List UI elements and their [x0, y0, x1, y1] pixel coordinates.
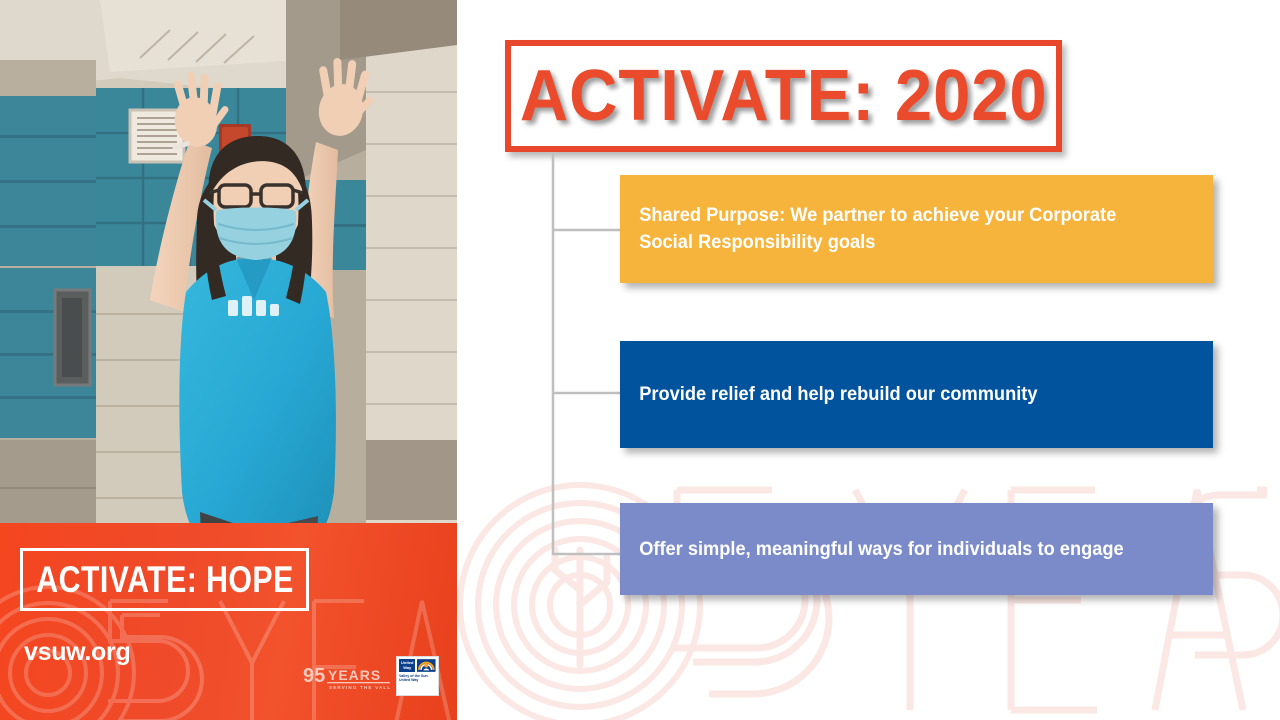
content-box-text: Provide relief and help rebuild our comm… [620, 381, 1059, 408]
content-box-offer-simple-ways[interactable]: Offer simple, meaningful ways for indivi… [620, 503, 1213, 595]
95-years-logo: 95 YEARS SERVING THE VALLEY [303, 662, 391, 690]
svg-text:95: 95 [303, 665, 325, 687]
content-box-provide-relief[interactable]: Provide relief and help rebuild our comm… [620, 341, 1213, 448]
slide-canvas: ACTIVATE: HOPE vsuw.org 95 YEARS SERVING… [0, 0, 1280, 720]
content-box-text: Offer simple, meaningful ways for indivi… [620, 536, 1145, 563]
svg-text:SERVING THE VALLEY: SERVING THE VALLEY [329, 685, 391, 690]
united-way-wordmark: UnitedWay [399, 659, 415, 672]
website-url[interactable]: vsuw.org [24, 638, 130, 667]
united-way-rainbow-hand-icon [417, 659, 436, 672]
slide-title: ACTIVATE: 2020 [520, 55, 1048, 137]
content-box-shared-purpose[interactable]: Shared Purpose: We partner to achieve yo… [620, 175, 1213, 283]
activate-hope-headline: ACTIVATE: HOPE [36, 559, 293, 601]
united-way-badge: UnitedWay Valley of the SunUnited Way [396, 656, 439, 696]
brand-banner: ACTIVATE: HOPE vsuw.org 95 YEARS SERVING… [0, 523, 457, 720]
slide-title-box: ACTIVATE: 2020 [505, 40, 1062, 152]
svg-text:YEARS: YEARS [328, 667, 381, 683]
content-box-text: Shared Purpose: We partner to achieve yo… [620, 202, 1189, 256]
activate-hope-box: ACTIVATE: HOPE [20, 548, 309, 611]
united-way-org-name: Valley of the SunUnited Way [399, 674, 436, 683]
